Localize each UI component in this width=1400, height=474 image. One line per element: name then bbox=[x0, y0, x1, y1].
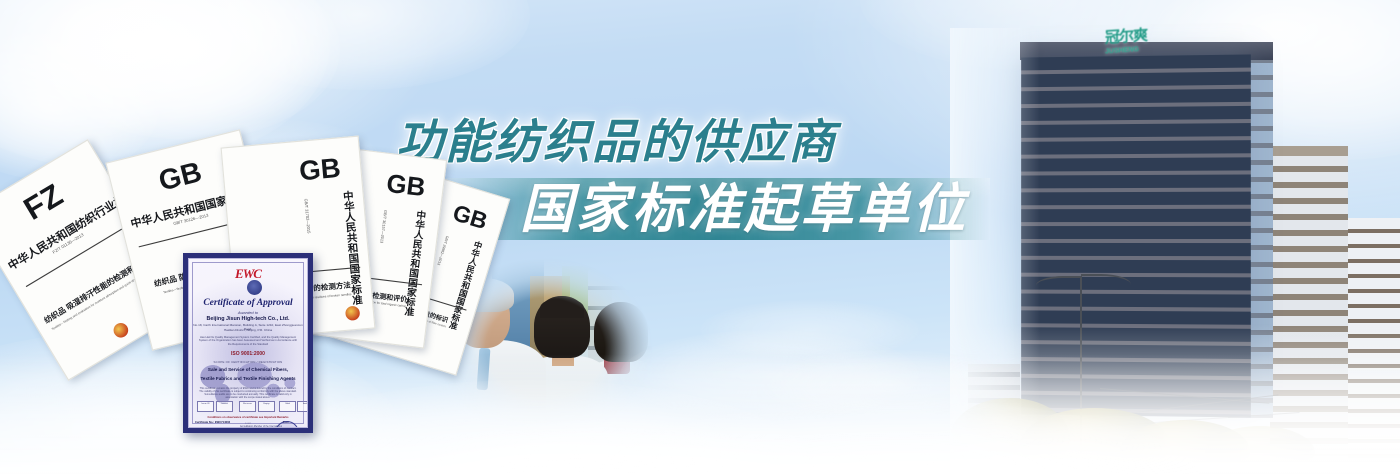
cloud-decoration bbox=[40, 0, 340, 140]
box-label: Expiry bbox=[263, 403, 269, 405]
certificate-standard: ISO 9001:2000 bbox=[189, 351, 307, 357]
box-label: Audit bbox=[303, 403, 308, 405]
accreditation-logo-icon bbox=[198, 427, 214, 428]
certificate-date-box: Valid bbox=[279, 401, 296, 412]
standard-code: GB/T 31702—2015 bbox=[303, 198, 310, 233]
certificate-scope-line1: Sale and Service of Chemical Fibers, bbox=[189, 367, 307, 372]
cloud-decoration bbox=[190, 0, 530, 90]
certificate-emblem-icon bbox=[247, 280, 262, 295]
certificate-inner: EWC Certificate of Approval Awarded to B… bbox=[188, 258, 308, 428]
certificate-footer-text: This certificate remains the property of… bbox=[199, 387, 297, 399]
certificate-address-line2: Haidian District, Beijing, P.R. China bbox=[189, 328, 307, 332]
standard-code: FZ/T 01136—2013 bbox=[8, 206, 129, 281]
headline-primary: 功能纺织品的供应商 bbox=[396, 118, 956, 165]
certificate-date-box: Issue 01 bbox=[197, 401, 214, 412]
standard-mark: GB bbox=[385, 169, 427, 204]
iso-certificate: EWC Certificate of Approval Awarded to B… bbox=[183, 253, 313, 433]
headline-secondary: 国家标准起草单位 bbox=[520, 183, 1080, 236]
certificate-date-box: Audit bbox=[297, 401, 308, 412]
ewc-logo: EWC bbox=[189, 266, 307, 282]
certificate-body-text: Has Had Its Quality Management System Ce… bbox=[197, 336, 299, 346]
standard-code: GB/T 29862—2013 bbox=[436, 235, 449, 266]
awarded-to-label: Awarded to bbox=[189, 310, 307, 315]
standard-mark: GB bbox=[298, 153, 342, 188]
certificate-date-box: Expiry bbox=[258, 401, 275, 412]
certificate-conditions-note: Conditions on observance of certificate … bbox=[189, 416, 307, 419]
certificate-title: Certificate of Approval bbox=[189, 298, 307, 308]
standard-code: GB/T 30157—2013 bbox=[379, 210, 387, 244]
rooftop-sign: 冠尔爽 JUSHENG bbox=[1105, 25, 1177, 54]
certificate-scope-label: SCOPE OF CERTIFICATION / REGISTRATION bbox=[189, 360, 307, 364]
box-label: Re-issue bbox=[243, 403, 252, 405]
cloud-decoration bbox=[700, 300, 920, 360]
standard-mark: GB bbox=[155, 155, 205, 198]
certificate-scope-line2: Textile Fabrics and Textile Finishing Ag… bbox=[189, 376, 307, 381]
hero-banner: 冠尔爽 JUSHENG bbox=[0, 0, 1400, 474]
street-lamp-arm-left bbox=[1036, 276, 1082, 292]
street-lamp-arm-right bbox=[1081, 274, 1131, 292]
national-seal bbox=[345, 306, 360, 321]
certificate-company-name: Beijing Jisun High-tech Co., Ltd. bbox=[189, 316, 307, 322]
standard-mark: GB bbox=[449, 199, 490, 235]
certificate-date-box: Re-issue bbox=[239, 401, 256, 412]
box-label: Issue 01 bbox=[201, 403, 209, 405]
certificate-form-number: F-002 bbox=[189, 423, 307, 425]
standard-mark: FZ bbox=[18, 177, 69, 227]
box-label: Valid bbox=[285, 403, 290, 405]
certificate-date-box: Issued bbox=[216, 401, 233, 412]
national-seal bbox=[111, 320, 131, 340]
box-label: Issued bbox=[221, 403, 227, 405]
